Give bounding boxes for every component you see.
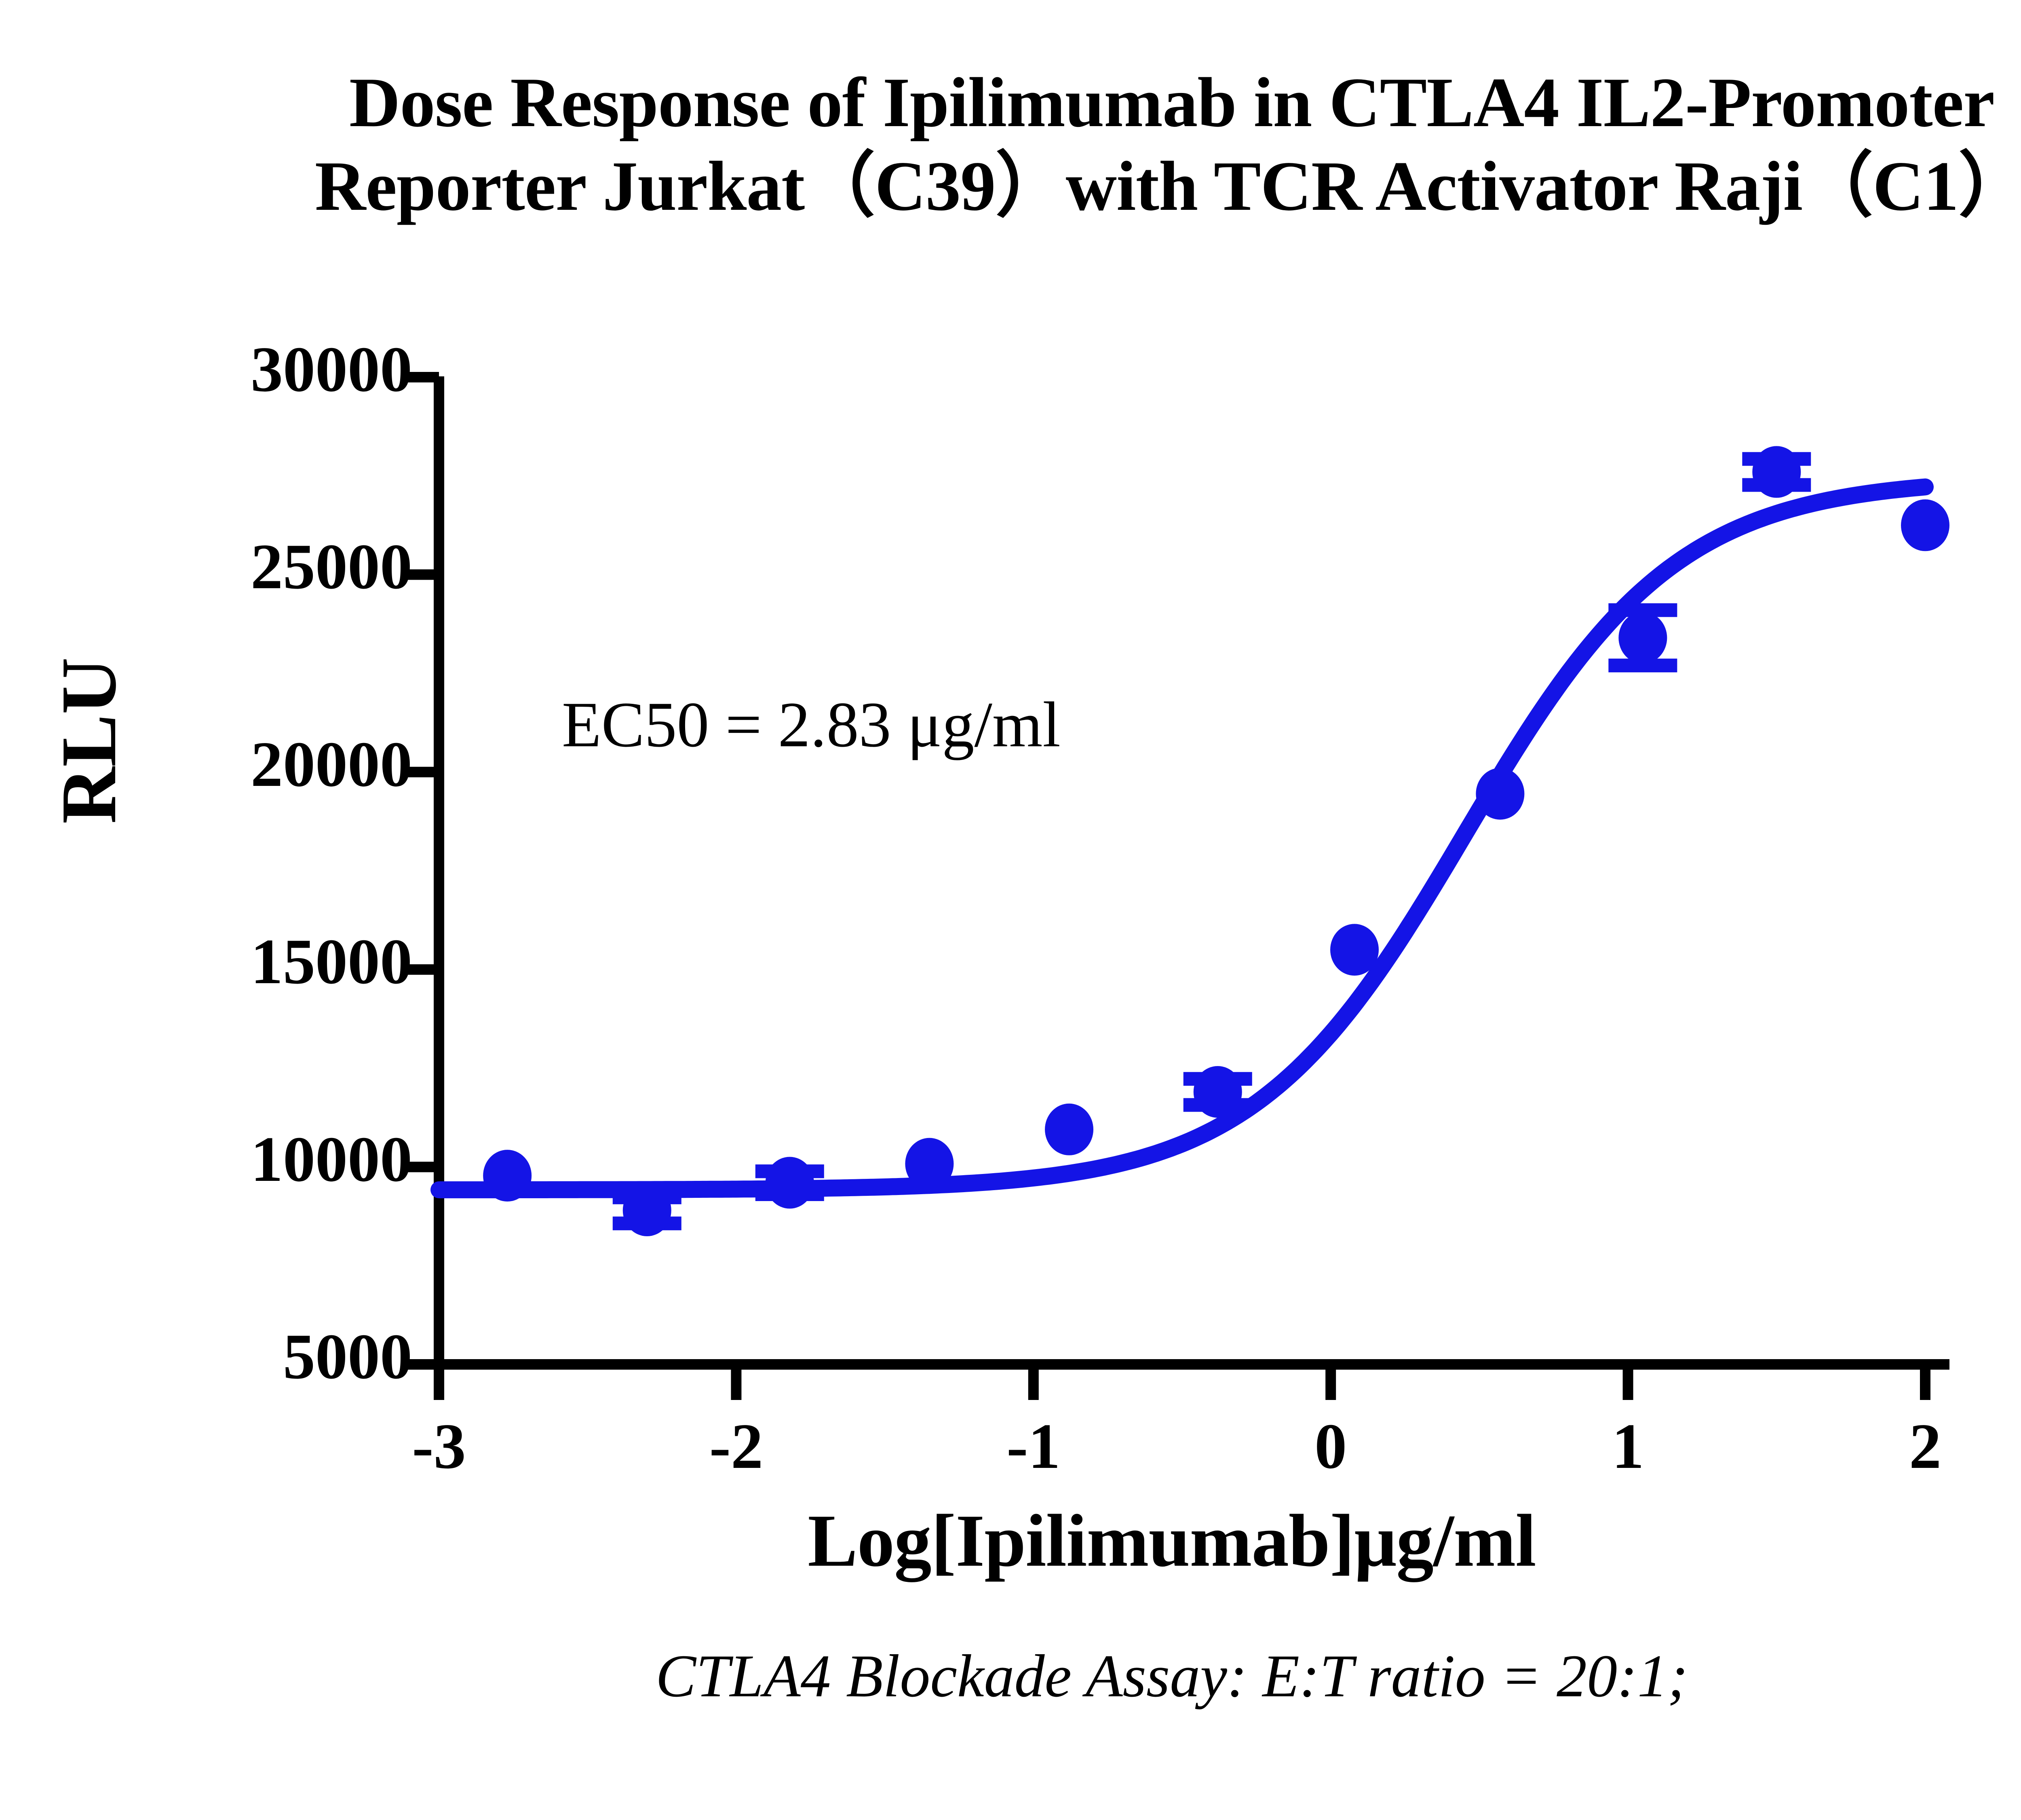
x-tick-label: 1 [1547,1409,1709,1484]
x-tick-label: -2 [655,1409,817,1484]
x-tick-label: 2 [1844,1409,2006,1484]
data-point-marker [1194,1066,1242,1118]
data-point-marker [766,1157,814,1209]
data-point-marker [1476,768,1524,820]
data-point-marker [483,1150,532,1201]
y-tick-label: 10000 [154,1122,412,1197]
data-points [483,446,1949,1236]
figure-caption: CTLA4 Blockade Assay: E:T ratio = 20:1; [0,1641,2021,1711]
x-tick-label: -1 [953,1409,1114,1484]
y-tick-label: 25000 [154,529,412,604]
y-tick-label: 20000 [154,727,412,802]
data-point-marker [1901,499,1949,551]
y-tick-label: 15000 [154,924,412,999]
tick-marks [403,377,1925,1400]
x-axis-title: Log[Ipilimumab]μg/ml [0,1498,2021,1584]
figure-canvas: Dose Response of Ipilimumab in CTLA4 IL2… [0,0,2021,1820]
ec50-annotation: EC50 = 2.83 μg/ml [562,687,1061,762]
fit-curve [439,487,1925,1190]
fit-curve-path [439,487,1925,1190]
data-point-marker [1618,612,1667,664]
y-tick-label: 5000 [154,1319,412,1394]
x-tick-label: 0 [1250,1409,1411,1484]
x-tick-label: -3 [358,1409,520,1484]
data-point-marker [623,1184,671,1236]
data-point-marker [905,1138,954,1190]
data-point-marker [1045,1104,1093,1155]
data-point-marker [1330,924,1379,975]
y-tick-label: 30000 [154,332,412,407]
data-point-marker [1752,446,1801,498]
